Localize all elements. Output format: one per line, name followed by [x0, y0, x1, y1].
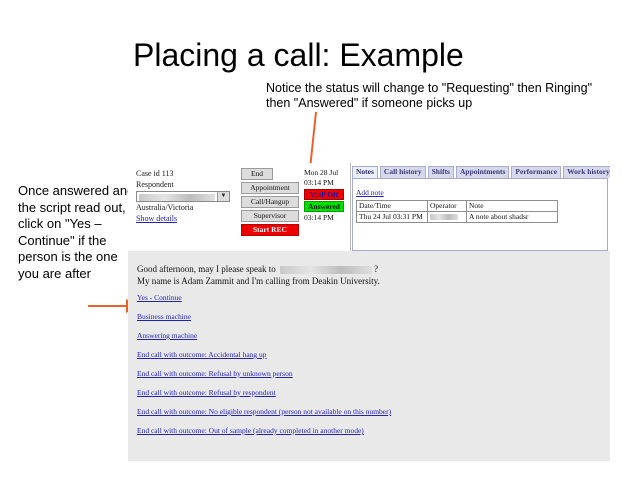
chevron-down-icon[interactable]: ▼: [217, 192, 229, 201]
show-details-link[interactable]: Show details: [136, 214, 240, 225]
script-line-1-text: Good afternoon, may I please speak to: [137, 264, 276, 274]
script-line-1: Good afternoon, may I please speak to ?: [137, 263, 380, 275]
app-screenshot: Case id 113 Respondent ▼ Australia/Victo…: [128, 163, 610, 461]
page-title: Placing a call: Example: [133, 36, 464, 74]
voip-status-badge: VoIP Off: [304, 189, 344, 200]
cell-datetime: Thu 24 Jul 03:31 PM: [357, 212, 428, 223]
script-text: Good afternoon, may I please speak to ? …: [137, 263, 380, 287]
call-info-block: Case id 113 Respondent ▼ Australia/Victo…: [136, 169, 240, 224]
notes-table: Date/Time Operator Note Thu 24 Jul 03:31…: [356, 200, 558, 223]
tab-appointments[interactable]: Appointments: [456, 166, 509, 178]
respondent-select[interactable]: ▼: [136, 191, 230, 202]
respondent-redacted-value: [139, 194, 215, 201]
script-line-2: My name is Adam Zammit and I'm calling f…: [137, 275, 380, 287]
outcome-links-list: Yes - Continue Business machine Answerin…: [137, 293, 597, 445]
table-header-row: Date/Time Operator Note: [357, 201, 558, 212]
call-status-badge: Answered: [304, 201, 344, 212]
cell-note: A note about shadsr: [467, 212, 558, 223]
outcome-link-accidental-hangup[interactable]: End call with outcome: Accidental hang u…: [137, 350, 597, 359]
annotation-status-change: Notice the status will change to "Reques…: [266, 81, 606, 111]
tab-strip: Notes Call history Shifts Appointments P…: [352, 166, 608, 178]
tab-notes[interactable]: Notes: [352, 166, 378, 178]
action-buttons-group: End Appointment Call/Hangup Supervisor S…: [241, 168, 303, 238]
end-button[interactable]: End: [241, 168, 273, 180]
panel-divider: [350, 163, 351, 251]
outcome-link-refusal-respondent[interactable]: End call with outcome: Refusal by respon…: [137, 388, 597, 397]
outcome-link-yes-continue[interactable]: Yes - Continue: [137, 293, 597, 302]
supervisor-button[interactable]: Supervisor: [241, 210, 299, 222]
tabs-region: Notes Call history Shifts Appointments P…: [352, 166, 608, 251]
app-top-panel: Case id 113 Respondent ▼ Australia/Victo…: [128, 163, 610, 251]
case-id-label: Case id 113: [136, 169, 240, 180]
status-column: Mon 28 Jul 03:14 PM VoIP Off Answered 03…: [304, 168, 348, 223]
outcome-link-no-eligible-respondent[interactable]: End call with outcome: No eligible respo…: [137, 407, 597, 416]
tab-work-history[interactable]: Work history: [563, 166, 610, 178]
outcome-link-refusal-unknown-person[interactable]: End call with outcome: Refusal by unknow…: [137, 369, 597, 378]
timezone-label: Australia/Victoria: [136, 203, 240, 214]
status-time-bottom: 03:14 PM: [304, 213, 348, 223]
outcome-link-out-of-sample[interactable]: End call with outcome: Out of sample (al…: [137, 426, 597, 435]
tab-call-history[interactable]: Call history: [380, 166, 426, 178]
tab-performance[interactable]: Performance: [511, 166, 561, 178]
script-area: Good afternoon, may I please speak to ? …: [128, 251, 610, 461]
operator-redacted-value: [430, 214, 458, 220]
outcome-link-business-machine[interactable]: Business machine: [137, 312, 597, 321]
start-rec-button[interactable]: Start REC: [241, 224, 299, 236]
column-header-operator: Operator: [428, 201, 467, 212]
column-header-datetime: Date/Time: [357, 201, 428, 212]
add-note-link[interactable]: Add note: [356, 188, 384, 197]
table-row[interactable]: Thu 24 Jul 03:31 PM A note about shadsr: [357, 212, 558, 223]
appointment-button[interactable]: Appointment: [241, 182, 299, 194]
status-date: Mon 28 Jul: [304, 168, 348, 178]
outcome-link-answering-machine[interactable]: Answering machine: [137, 331, 597, 340]
cell-operator: [428, 212, 467, 223]
column-header-note: Note: [467, 201, 558, 212]
tab-shifts[interactable]: Shifts: [428, 166, 454, 178]
status-time-top: 03:14 PM: [304, 178, 348, 188]
notes-tab-panel: Add note Date/Time Operator Note Thu 24 …: [352, 178, 608, 251]
respondent-label: Respondent: [136, 180, 240, 191]
annotation-yes-continue: Once answered and the script read out, c…: [18, 183, 136, 282]
call-hangup-button[interactable]: Call/Hangup: [241, 196, 299, 208]
script-line-1-tail: ?: [374, 264, 378, 274]
respondent-name-redacted: [280, 266, 372, 274]
